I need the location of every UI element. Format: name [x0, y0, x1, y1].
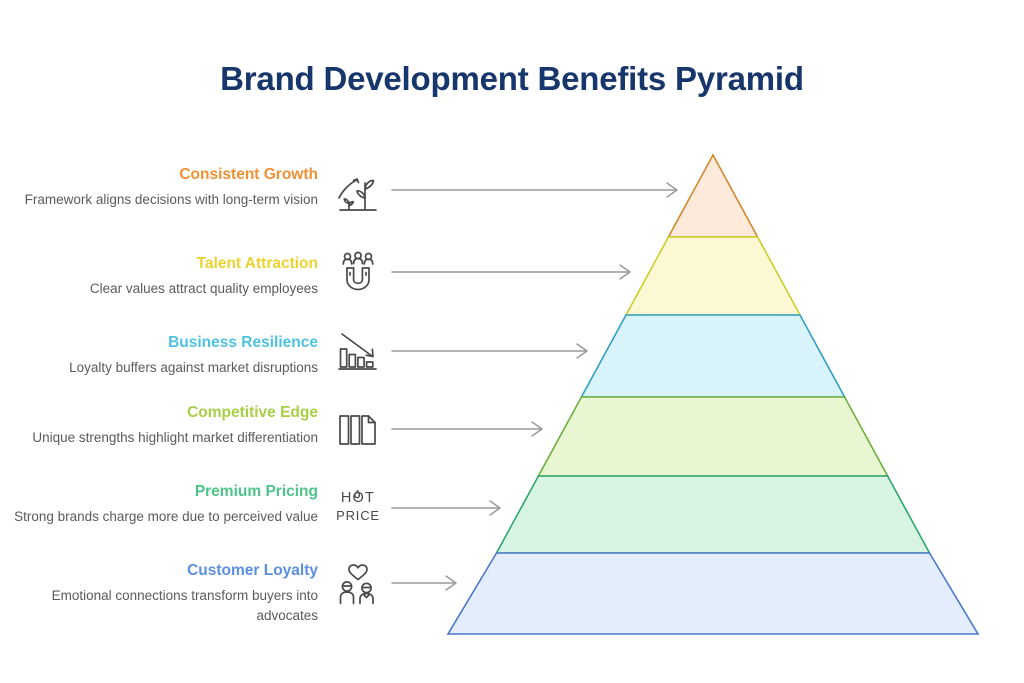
pyramid-diagram — [0, 0, 1024, 683]
connector-arrow-talent-attraction — [392, 265, 630, 279]
connector-arrow-customer-loyalty — [392, 576, 456, 590]
pyramid-band-talent-attraction[interactable] — [626, 237, 800, 315]
pyramid-band-customer-loyalty[interactable] — [448, 553, 978, 634]
pyramid-band-competitive-edge[interactable] — [538, 397, 887, 476]
pyramid-band-premium-pricing[interactable] — [497, 476, 930, 553]
pyramid-band-consistent-growth[interactable] — [668, 155, 757, 237]
connector-arrow-business-resilience — [392, 344, 587, 358]
infographic-canvas: Brand Development Benefits Pyramid Consi… — [0, 0, 1024, 683]
connector-arrow-premium-pricing — [392, 501, 500, 515]
connector-arrow-competitive-edge — [392, 422, 542, 436]
connector-arrow-consistent-growth — [392, 183, 677, 197]
pyramid-band-business-resilience[interactable] — [581, 315, 844, 397]
